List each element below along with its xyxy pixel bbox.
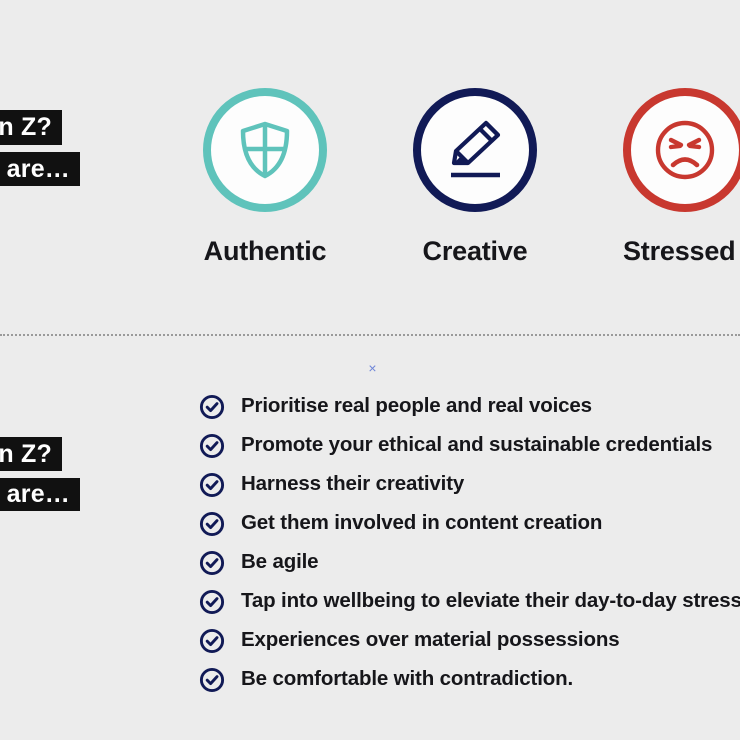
check-circle-icon	[199, 667, 225, 693]
trait-authentic	[203, 88, 327, 212]
trait-icon-row	[0, 88, 740, 213]
check-circle-icon	[199, 550, 225, 576]
chip-label: are…	[7, 482, 70, 507]
list-item: Experiences over material possessions	[199, 621, 740, 660]
chip-label: en Z?	[0, 442, 52, 467]
section-divider	[0, 334, 740, 336]
list-item: Prioritise real people and real voices	[199, 387, 740, 426]
trait-label-creative: Creative	[413, 236, 537, 267]
trait-creative	[413, 88, 537, 212]
chip-they-are-bottom: are…	[0, 478, 80, 511]
list-item-label: Promote your ethical and sustainable cre…	[241, 435, 712, 456]
pencil-icon	[442, 117, 508, 183]
check-circle-icon	[199, 433, 225, 459]
check-circle-icon	[199, 628, 225, 654]
shield-icon	[237, 120, 293, 180]
trait-label-stressed: Stressed	[623, 236, 740, 267]
list-item-label: Harness their creativity	[241, 474, 464, 495]
check-circle-icon	[199, 394, 225, 420]
list-item-label: Tap into wellbeing to eleviate their day…	[241, 591, 740, 612]
check-circle-icon	[199, 589, 225, 615]
chip-gen-z-question-bottom: en Z?	[0, 437, 62, 471]
list-item: Be comfortable with contradiction.	[199, 660, 740, 699]
recommendation-checklist: Prioritise real people and real voices P…	[199, 387, 740, 699]
list-item-label: Get them involved in content creation	[241, 513, 602, 534]
trait-stressed	[623, 88, 740, 212]
list-item-label: Experiences over material possessions	[241, 630, 619, 651]
icon-ring-teal	[203, 88, 327, 212]
x-mark-icon: ×	[366, 362, 379, 375]
list-item-label: Prioritise real people and real voices	[241, 396, 592, 417]
list-item: Get them involved in content creation	[199, 504, 740, 543]
slide-canvas: en Z? are…	[0, 0, 740, 740]
check-circle-icon	[199, 472, 225, 498]
list-item: Promote your ethical and sustainable cre…	[199, 426, 740, 465]
list-item-label: Be comfortable with contradiction.	[241, 669, 573, 690]
list-item-label: Be agile	[241, 552, 318, 573]
list-item: Be agile	[199, 543, 740, 582]
check-circle-icon	[199, 511, 225, 537]
list-item: Harness their creativity	[199, 465, 740, 504]
icon-ring-navy	[413, 88, 537, 212]
icon-ring-red	[623, 88, 740, 212]
sad-face-icon	[654, 119, 716, 181]
list-item: Tap into wellbeing to eleviate their day…	[199, 582, 740, 621]
trait-label-authentic: Authentic	[203, 236, 327, 267]
